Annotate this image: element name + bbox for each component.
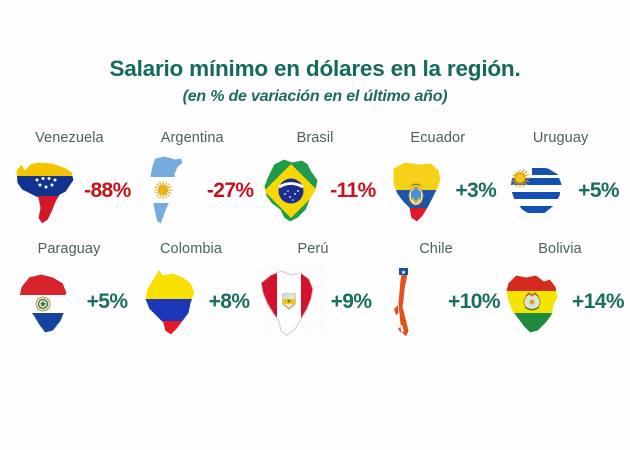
argentina-map <box>131 150 205 232</box>
country-label: Ecuador <box>410 130 465 146</box>
country-row: Venezuela <box>0 130 630 232</box>
ecuador-map <box>379 150 453 232</box>
value-badge: +8% <box>209 290 250 314</box>
venezuela-map <box>8 150 82 232</box>
map-value-pair: +14% <box>498 261 622 343</box>
value-badge: -27% <box>207 179 254 203</box>
country-label: Paraguay <box>38 241 101 257</box>
brasil-map <box>254 150 328 232</box>
country-label: Venezuela <box>35 130 104 146</box>
map-value-pair: +5% <box>8 261 130 343</box>
country-cell-ecuador: Ecuador <box>376 130 499 232</box>
map-value-pair: +10% <box>374 261 498 343</box>
colombia-map <box>133 261 207 343</box>
uruguay-map <box>502 150 576 232</box>
country-cell-bolivia: Bolivia <box>498 241 622 343</box>
value-badge: +10% <box>448 290 500 314</box>
paraguay-map <box>11 261 85 343</box>
page-title: Salario mínimo en dólares en la región. <box>0 56 630 82</box>
country-label: Brasil <box>297 130 334 146</box>
country-label: Colombia <box>160 241 222 257</box>
value-badge: +14% <box>572 290 624 314</box>
country-cell-venezuela: Venezuela <box>8 130 131 232</box>
country-cell-colombia: Colombia <box>130 241 252 343</box>
country-label: Uruguay <box>533 130 589 146</box>
map-value-pair: -11% <box>254 150 377 232</box>
country-cell-brasil: Brasil <box>254 130 377 232</box>
value-badge: +3% <box>455 179 496 203</box>
peru-map <box>255 261 329 343</box>
country-cell-chile: Chile <box>374 241 498 343</box>
page-subtitle: (en % de variación en el último año) <box>0 88 630 106</box>
bolivia-map <box>496 261 570 343</box>
country-label: Perú <box>297 241 328 257</box>
value-badge: -88% <box>84 179 131 203</box>
country-cell-peru: Perú <box>252 241 374 343</box>
value-badge: +5% <box>578 179 619 203</box>
chile-map <box>372 261 446 343</box>
country-label: Chile <box>419 241 453 257</box>
country-label: Argentina <box>161 130 224 146</box>
map-value-pair: +8% <box>130 261 252 343</box>
country-row: Paraguay <box>0 241 630 343</box>
country-cell-paraguay: Paraguay <box>8 241 130 343</box>
country-cell-argentina: Argentina <box>131 130 254 232</box>
map-value-pair: +9% <box>252 261 374 343</box>
country-label: Bolivia <box>538 241 581 257</box>
header: Salario mínimo en dólares en la región. … <box>0 56 630 106</box>
value-badge: +9% <box>331 290 372 314</box>
map-value-pair: +3% <box>376 150 499 232</box>
map-value-pair: +5% <box>499 150 622 232</box>
country-grid: Venezuela <box>0 130 630 343</box>
infographic-root: Salario mínimo en dólares en la región. … <box>0 0 630 450</box>
map-value-pair: -27% <box>131 150 254 232</box>
value-badge: -11% <box>330 179 375 203</box>
map-value-pair: -88% <box>8 150 131 232</box>
country-cell-uruguay: Uruguay <box>499 130 622 232</box>
value-badge: +5% <box>87 290 128 314</box>
